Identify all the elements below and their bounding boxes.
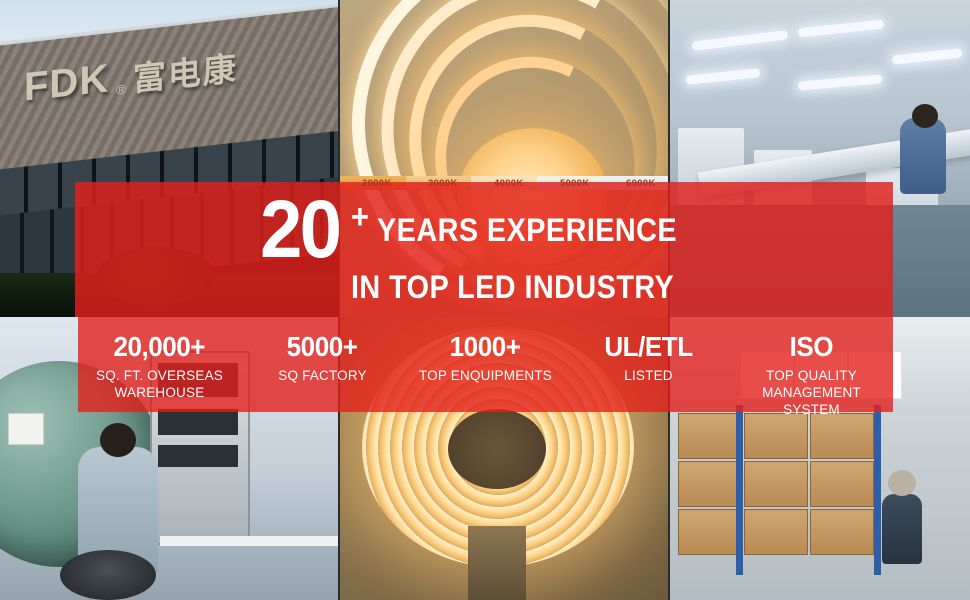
equipment-screen-3 bbox=[158, 445, 238, 467]
kelvin-label-6000k: 6000K bbox=[626, 178, 656, 189]
plus-sign: + bbox=[351, 200, 369, 234]
pallet-box-7 bbox=[678, 509, 742, 555]
headline-line-1: 20 + YEARS EXPERIENCE bbox=[257, 196, 711, 265]
stat-label: TOP ENQUIPMENTS bbox=[408, 368, 563, 385]
stat-item-factory: 5000+ SQ FACTORY bbox=[241, 332, 404, 385]
stat-item-warehouse: 20,000+ SQ. FT. OVERSEAS WAREHOUSE bbox=[78, 332, 241, 402]
kelvin-label-4000k: 4000K bbox=[494, 178, 524, 189]
warehouse-worker-head bbox=[888, 470, 916, 496]
kelvin-label-3000k: 3000K bbox=[428, 178, 458, 189]
pallet-box-9 bbox=[810, 509, 874, 555]
stat-value: ISO bbox=[790, 332, 833, 361]
reel-stand bbox=[468, 526, 526, 600]
ceiling-light-5 bbox=[892, 48, 963, 64]
ceiling-light-1 bbox=[692, 30, 788, 51]
production-worker-body bbox=[900, 118, 946, 194]
sphere-label-sign bbox=[8, 413, 44, 445]
registered-mark-icon: ® bbox=[116, 82, 126, 98]
stat-item-equipments: 1000+ TOP ENQUIPMENTS bbox=[404, 332, 567, 385]
pallet-box-2 bbox=[744, 413, 808, 459]
production-worker-head bbox=[912, 104, 938, 128]
stat-value: 20,000+ bbox=[114, 332, 206, 361]
lab-chair bbox=[60, 550, 156, 600]
equipment-screen-2 bbox=[158, 409, 238, 435]
pallet-box-8 bbox=[744, 509, 808, 555]
rack-upright-2 bbox=[874, 405, 881, 575]
headline-block: 20 + YEARS EXPERIENCE IN TOP LED INDUSTR… bbox=[75, 182, 893, 317]
stat-value: UL/ETL bbox=[604, 332, 692, 361]
pallet-box-1 bbox=[678, 413, 742, 459]
ceiling-light-2 bbox=[798, 20, 884, 38]
kelvin-label-5000k: 5000K bbox=[560, 178, 590, 189]
warehouse-worker-body bbox=[882, 494, 922, 564]
years-number: 20 bbox=[260, 196, 339, 265]
stat-value: 1000+ bbox=[450, 332, 521, 361]
headline-text-1: YEARS EXPERIENCE bbox=[377, 214, 677, 246]
pallet-box-6 bbox=[810, 461, 874, 507]
stat-label: TOP QUALITY MANAGEMENT SYSTEM bbox=[734, 368, 889, 419]
reel-center-hub bbox=[448, 409, 546, 489]
stat-item-iso: ISO TOP QUALITY MANAGEMENT SYSTEM bbox=[730, 332, 893, 419]
rack-upright-1 bbox=[736, 405, 743, 575]
stat-label: SQ. FT. OVERSEAS WAREHOUSE bbox=[82, 368, 237, 402]
promo-banner: FDK ® 富电康 bbox=[0, 0, 970, 600]
ceiling-light-4 bbox=[798, 74, 882, 90]
logo-text-latin: FDK bbox=[24, 58, 109, 107]
stat-label: SQ FACTORY bbox=[245, 368, 400, 385]
stats-row: 20,000+ SQ. FT. OVERSEAS WAREHOUSE 5000+… bbox=[78, 317, 893, 412]
kelvin-label-2000k: 2000K bbox=[362, 178, 392, 189]
stat-item-ul-etl: UL/ETL LISTED bbox=[567, 332, 730, 385]
pallet-box-4 bbox=[678, 461, 742, 507]
stat-label: LISTED bbox=[571, 368, 726, 385]
pallet-box-5 bbox=[744, 461, 808, 507]
lab-desk bbox=[160, 536, 338, 546]
ceiling-light-3 bbox=[686, 68, 761, 85]
stat-value: 5000+ bbox=[287, 332, 358, 361]
lab-worker-head bbox=[100, 423, 136, 457]
pallet-box-3 bbox=[810, 413, 874, 459]
headline-text-2: IN TOP LED INDUSTRY bbox=[351, 271, 674, 303]
